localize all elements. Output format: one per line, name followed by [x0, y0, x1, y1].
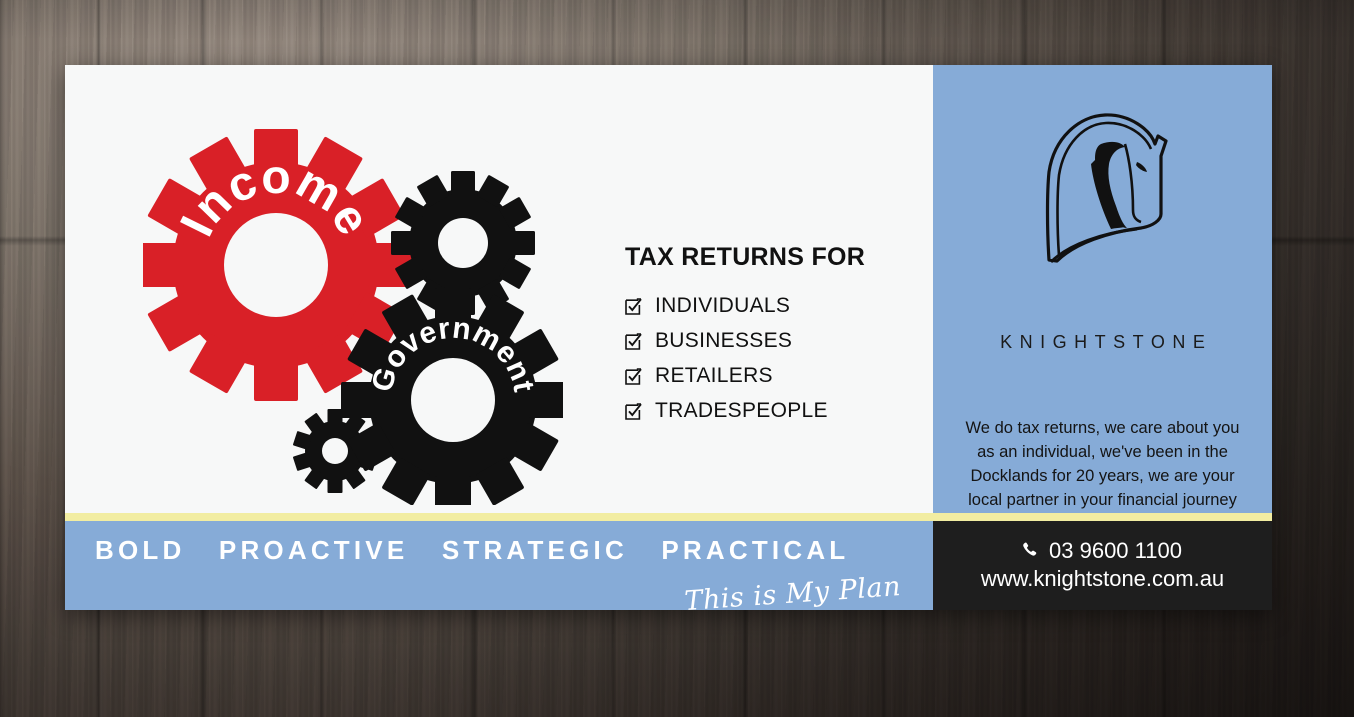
- advertisement-scene: Income: [0, 0, 1354, 717]
- service-item-tradespeople: TRADESPEOPLE: [625, 399, 865, 423]
- business-card: Income: [65, 65, 1272, 610]
- service-label: RETAILERS: [655, 364, 773, 388]
- service-label: INDIVIDUALS: [655, 294, 790, 318]
- service-item-individuals: INDIVIDUALS: [625, 294, 865, 318]
- tagline-bar: BOLD PROACTIVE STRATEGIC PRACTICAL This …: [65, 521, 933, 610]
- tagline-word-practical: PRACTICAL: [661, 535, 849, 565]
- checkbox-checked-icon: [625, 403, 642, 420]
- tagline-word-proactive: PROACTIVE: [219, 535, 408, 565]
- phone-row[interactable]: 03 9600 1100: [1023, 537, 1182, 565]
- knight-helmet-icon: [1037, 110, 1169, 268]
- tagline-words: BOLD PROACTIVE STRATEGIC PRACTICAL: [95, 535, 913, 566]
- gears-illustration: Income: [143, 115, 563, 505]
- phone-number: 03 9600 1100: [1049, 537, 1182, 565]
- checkbox-checked-icon: [625, 333, 642, 350]
- contact-bar: 03 9600 1100 www.knightstone.com.au: [933, 521, 1272, 610]
- website-url[interactable]: www.knightstone.com.au: [981, 565, 1224, 594]
- phone-icon: [1023, 542, 1040, 559]
- tagline-word-strategic: STRATEGIC: [442, 535, 628, 565]
- left-white-panel: Income: [65, 65, 933, 513]
- card-top-section: Income: [65, 65, 1272, 513]
- right-blue-panel: KNIGHTSTONE We do tax returns, we care a…: [933, 65, 1272, 513]
- service-item-businesses: BUSINESSES: [625, 329, 865, 353]
- checkbox-checked-icon: [625, 368, 642, 385]
- brand-logo: [933, 110, 1272, 268]
- services-heading: TAX RETURNS FOR: [625, 243, 865, 272]
- card-bottom-section: BOLD PROACTIVE STRATEGIC PRACTICAL This …: [65, 521, 1272, 610]
- tagline-word-bold: BOLD: [95, 535, 185, 565]
- checkbox-checked-icon: [625, 298, 642, 315]
- services-block: TAX RETURNS FOR INDIVIDUALS: [625, 243, 865, 434]
- yellow-divider: [65, 513, 1272, 521]
- brand-blurb: We do tax returns, we care about you as …: [955, 417, 1250, 513]
- service-item-retailers: RETAILERS: [625, 364, 865, 388]
- brand-name: KNIGHTSTONE: [933, 332, 1272, 353]
- service-label: BUSINESSES: [655, 329, 792, 353]
- service-label: TRADESPEOPLE: [655, 399, 828, 423]
- services-list: INDIVIDUALS BUSINESSES: [625, 294, 865, 423]
